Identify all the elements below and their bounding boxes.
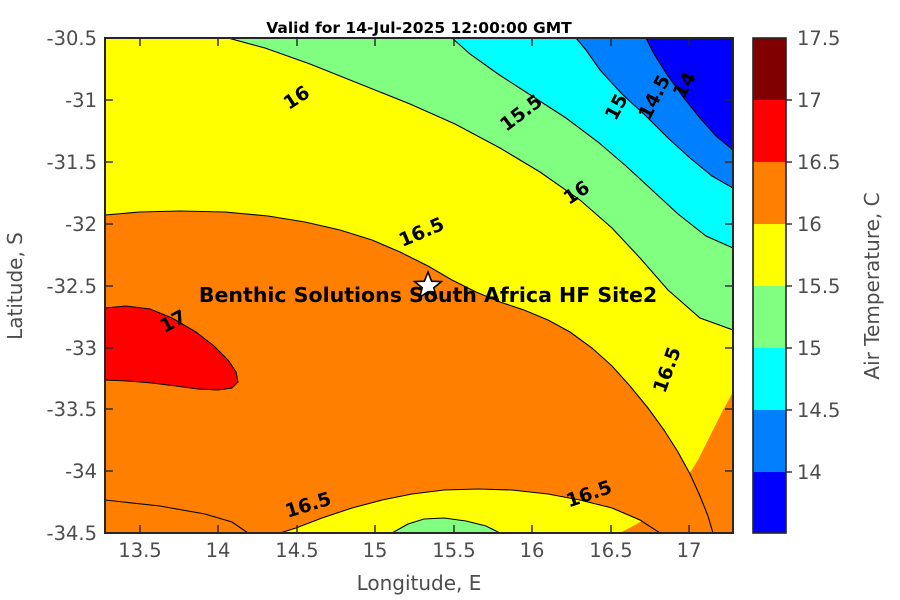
colorbar-swatch-16 xyxy=(753,224,786,286)
y-axis-title: Latitude, S xyxy=(3,232,27,340)
colorbar-tick-label: 16 xyxy=(797,213,822,236)
x-tick-label: 16 xyxy=(520,539,545,562)
x-tick-label: 14.5 xyxy=(275,539,318,562)
colorbar-tick-label: 14 xyxy=(797,461,822,484)
y-tick-label: -34 xyxy=(65,460,97,483)
y-axis-tick-labels: -30.5 -31 -31.5 -32 -32.5 -33 -33.5 -34 … xyxy=(47,27,97,545)
y-tick-label: -32.5 xyxy=(47,275,97,298)
colorbar-tick-label: 17.5 xyxy=(797,27,840,50)
colorbar-tick-label: 15.5 xyxy=(797,275,840,298)
colorbar-tick-label: 17 xyxy=(797,89,822,112)
x-tick-label: 14 xyxy=(206,539,231,562)
y-tick-label: -34.5 xyxy=(47,522,97,545)
colorbar[interactable]: 17.5 17 16.5 16 15.5 15 14.5 14 Air Temp… xyxy=(753,27,884,533)
colorbar-tick-label: 16.5 xyxy=(797,151,840,174)
colorbar-swatch-14_5 xyxy=(753,410,786,472)
colorbar-swatch-17 xyxy=(753,100,786,162)
figure-canvas: 16 15.5 15 14.5 14 16 16.5 17 16.5 16.5 … xyxy=(0,0,900,600)
colorbar-swatch-14 xyxy=(753,472,786,533)
site-marker-label: Benthic Solutions South Africa HF Site2 xyxy=(199,283,657,307)
colorbar-tick-label: 15 xyxy=(797,337,822,360)
x-axis-title: Longitude, E xyxy=(357,571,482,595)
x-tick-label: 16.5 xyxy=(589,539,632,562)
colorbar-tick-label: 14.5 xyxy=(797,399,840,422)
x-axis-tick-labels: 13.5 14 14.5 15 15.5 16 16.5 17 xyxy=(118,539,701,562)
x-tick-label: 17 xyxy=(677,539,702,562)
y-tick-label: -31 xyxy=(65,89,97,112)
colorbar-swatch-16_5 xyxy=(753,162,786,224)
y-tick-label: -32 xyxy=(65,213,97,236)
page-title: Valid for 14-Jul-2025 12:00:00 GMT xyxy=(266,19,572,37)
y-tick-label: -33.5 xyxy=(47,398,97,421)
y-tick-label: -30.5 xyxy=(47,27,97,50)
x-tick-label: 15.5 xyxy=(432,539,475,562)
y-tick-label: -31.5 xyxy=(47,151,97,174)
colorbar-swatch-17_5 xyxy=(753,38,786,100)
contour-map-figure: 16 15.5 15 14.5 14 16 16.5 17 16.5 16.5 … xyxy=(0,0,900,600)
colorbar-swatch-15_5 xyxy=(753,286,786,348)
x-tick-label: 13.5 xyxy=(118,539,161,562)
colorbar-swatch-15 xyxy=(753,348,786,410)
x-tick-label: 15 xyxy=(363,539,388,562)
y-tick-label: -33 xyxy=(65,337,97,360)
colorbar-title: Air Temperature, C xyxy=(860,192,884,379)
contour-field: 16 15.5 15 14.5 14 16 16.5 17 16.5 16.5 … xyxy=(105,38,733,533)
